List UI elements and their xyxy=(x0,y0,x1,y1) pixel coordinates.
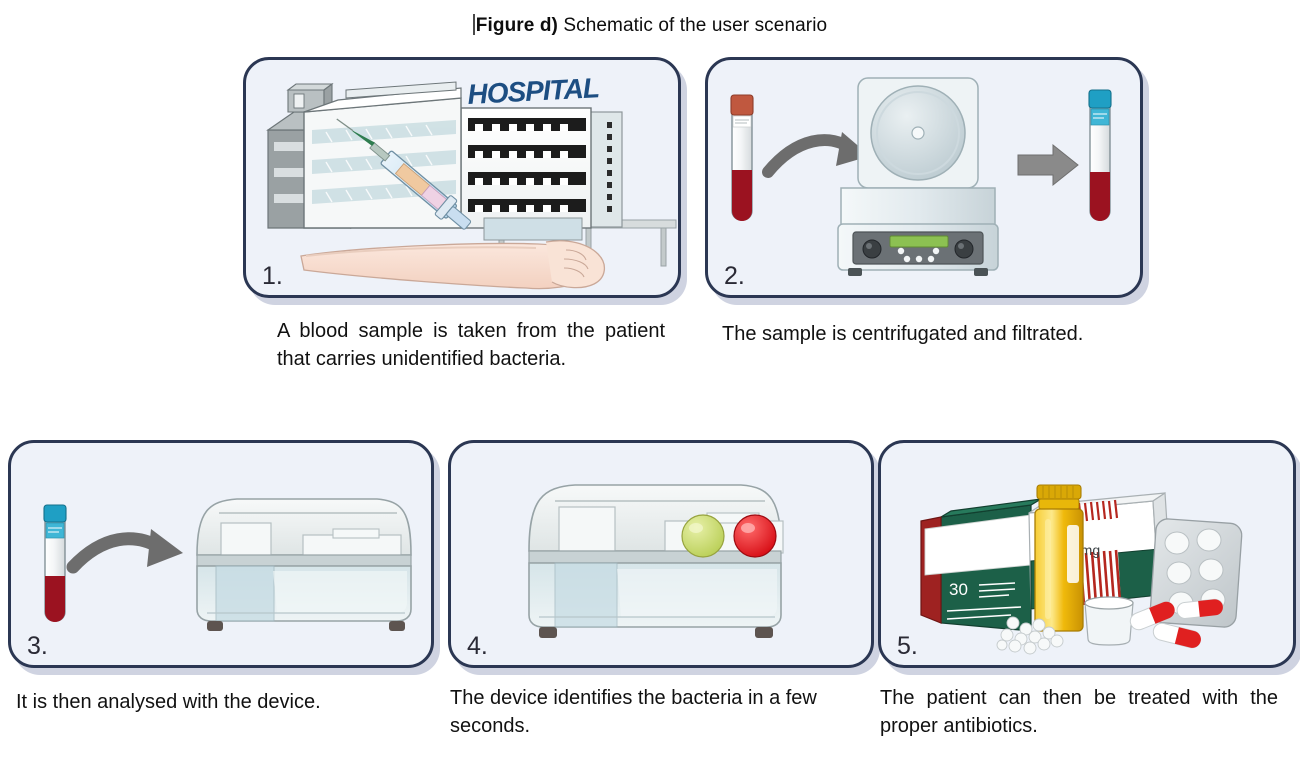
panel-3-caption: It is then analysed with the device. xyxy=(16,688,416,716)
patient-arm xyxy=(301,241,604,289)
panel-5-illustration: 30 xyxy=(881,443,1293,665)
straight-arrow xyxy=(1018,145,1078,185)
panel-2-number: 2. xyxy=(724,262,745,291)
panel-4-illustration xyxy=(451,443,871,665)
medication-scene-svg: 30 xyxy=(881,443,1293,665)
blood-tube-before xyxy=(731,95,753,221)
panel-3-number: 3. xyxy=(27,632,48,661)
panel-5-caption: The patient can then be treated with the… xyxy=(880,684,1278,741)
panel-1[interactable]: HOSPITAL xyxy=(243,57,681,298)
green-box-label: 30 xyxy=(949,580,968,599)
pill-bottle xyxy=(1035,485,1083,631)
hospital-scene-svg: HOSPITAL xyxy=(246,60,678,295)
panel-1-illustration: HOSPITAL xyxy=(246,60,678,295)
hospital-sign: HOSPITAL xyxy=(467,72,600,110)
svg-text:HOSPITAL: HOSPITAL xyxy=(467,72,600,110)
blood-tube xyxy=(44,505,66,622)
figure-title-text: Schematic of the user scenario xyxy=(558,15,827,36)
analyser-with-tube-svg xyxy=(11,443,431,665)
centrifuge xyxy=(838,78,998,276)
figure-root: Figure d) Schematic of the user scenario xyxy=(0,0,1300,765)
panel-5-number: 5. xyxy=(897,632,918,661)
analyser-device xyxy=(197,499,411,631)
measuring-cup xyxy=(1085,597,1133,645)
panel-4-number: 4. xyxy=(467,632,488,661)
panel-1-caption: A blood sample is taken from the patient… xyxy=(277,317,665,374)
panel-3-illustration xyxy=(11,443,431,665)
blood-tube-after xyxy=(1089,90,1111,221)
panel-5[interactable]: 30 xyxy=(878,440,1296,668)
analyser-device xyxy=(529,485,783,638)
panel-4[interactable]: 4. xyxy=(448,440,874,668)
hospital-main-block xyxy=(461,108,591,240)
curved-arrow xyxy=(73,529,183,567)
centrifuge-scene-svg xyxy=(708,60,1140,295)
panel-3[interactable]: 3. xyxy=(8,440,434,668)
panel-4-caption: The device identifies the bacteria in a … xyxy=(450,684,848,741)
green-medicine-box: 30 xyxy=(921,499,1041,631)
analyser-lights-svg xyxy=(451,443,871,665)
curved-arrow xyxy=(768,132,870,172)
figure-title: Figure d) Schematic of the user scenario xyxy=(0,14,1300,37)
panel-1-number: 1. xyxy=(262,262,283,291)
panel-2-caption: The sample is centrifugated and filtrate… xyxy=(722,320,1110,348)
green-indicator-light[interactable] xyxy=(682,515,724,557)
red-indicator-light[interactable] xyxy=(734,515,776,557)
panel-2-illustration xyxy=(708,60,1140,295)
figure-label: Figure d) xyxy=(476,15,558,36)
panel-2[interactable]: 2. xyxy=(705,57,1143,298)
text-caret xyxy=(473,14,475,35)
